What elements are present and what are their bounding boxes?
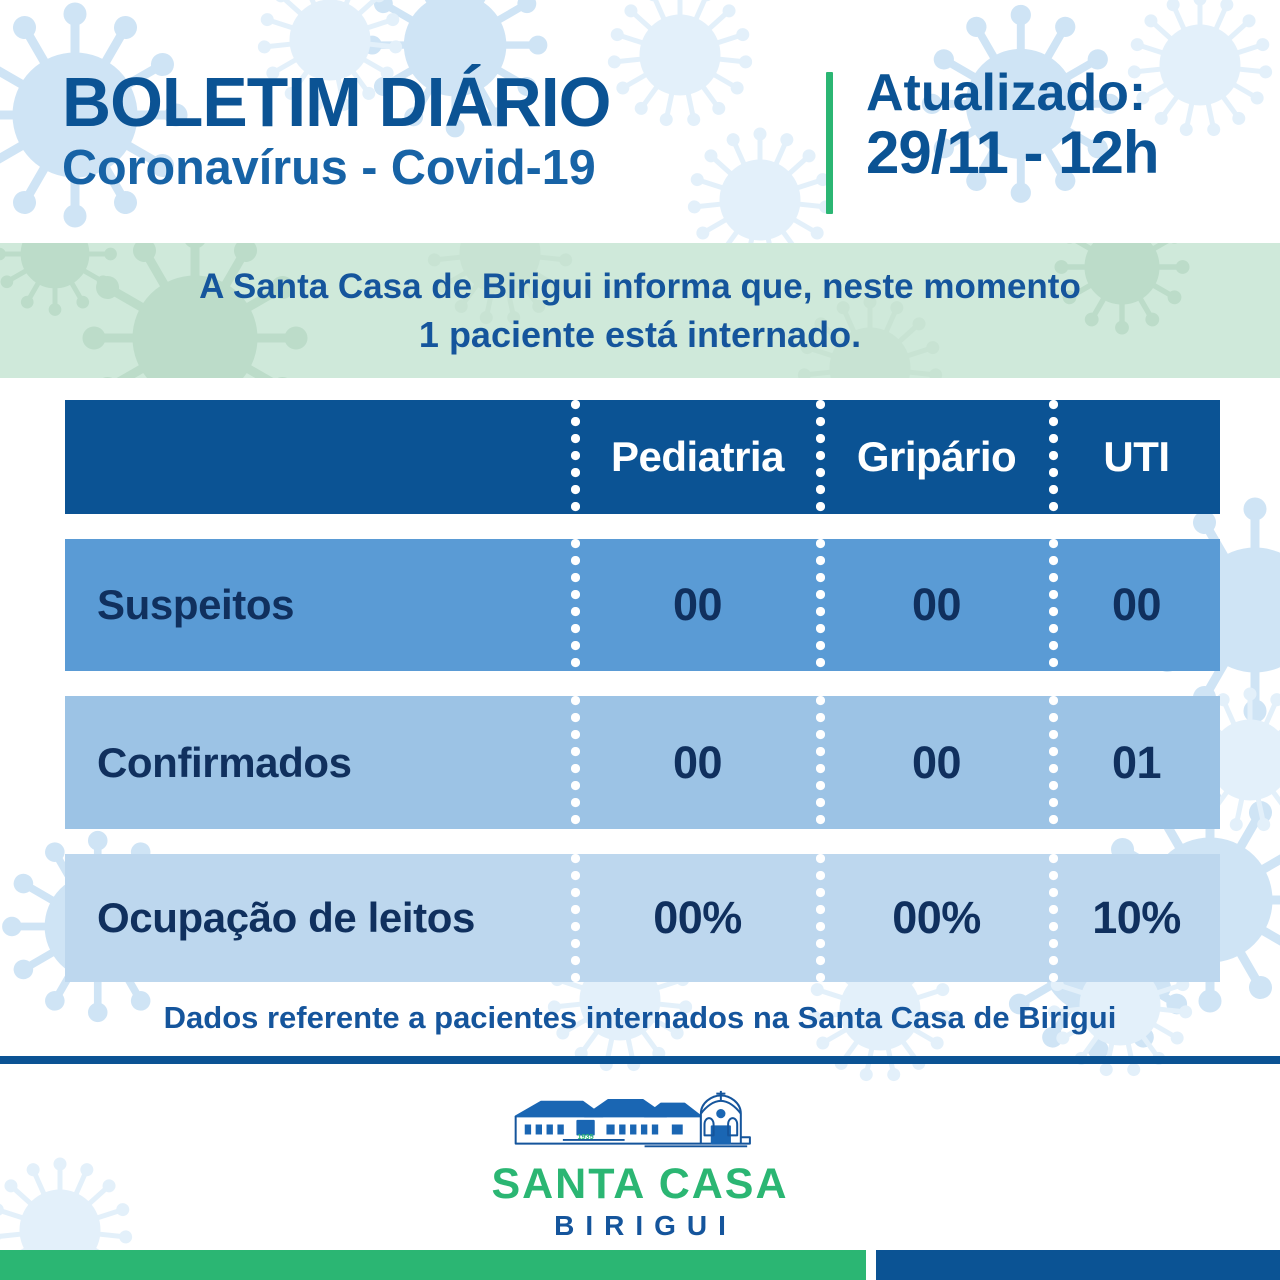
row-value-cell: 00% [820, 854, 1053, 982]
table-row: Ocupação de leitos 00% 00% 10% [65, 854, 1220, 982]
header-title-block: BOLETIM DIÁRIO Coronavírus - Covid-19 [62, 68, 807, 195]
column-header-label: Gripário [857, 433, 1016, 481]
update-block: Atualizado: 29/11 - 12h [866, 66, 1159, 185]
info-banner-line-2: 1 paciente está internado. [0, 312, 1280, 359]
row-label-cell: Ocupação de leitos [65, 854, 575, 982]
column-header-gripario: Gripário [820, 400, 1053, 514]
row-value-cell: 00 [820, 696, 1053, 829]
row-value: 00 [912, 579, 961, 631]
row-value-cell: 10% [1053, 854, 1220, 982]
row-value: 00 [1112, 579, 1161, 631]
footer-bar-green [0, 1250, 866, 1280]
column-header-label: UTI [1103, 433, 1169, 481]
row-label: Suspeitos [97, 581, 294, 629]
update-label: Atualizado: [866, 66, 1159, 121]
row-value-cell: 00 [1053, 539, 1220, 671]
occupancy-table: Pediatria Gripário UTI Suspeitos 00 00 [65, 400, 1220, 982]
poster-header: BOLETIM DIÁRIO Coronavírus - Covid-19 At… [0, 0, 1280, 243]
row-value: 00 [912, 737, 961, 789]
page-title: BOLETIM DIÁRIO [62, 68, 785, 137]
table-footnote: Dados referente a pacientes internados n… [0, 1000, 1280, 1036]
footer-bars [0, 1250, 1280, 1280]
table-row: Suspeitos 00 00 00 [65, 539, 1220, 671]
row-value-cell: 00 [820, 539, 1053, 671]
row-value: 00 [673, 737, 722, 789]
update-timestamp: 29/11 - 12h [866, 121, 1159, 185]
page-subtitle: Coronavírus - Covid-19 [62, 141, 800, 196]
table-corner-cell [65, 400, 575, 514]
logo-name: SANTA CASA [491, 1163, 788, 1206]
covid-bulletin-poster: BOLETIM DIÁRIO Coronavírus - Covid-19 At… [0, 0, 1280, 1280]
footer-rule [0, 1056, 1280, 1064]
row-value: 10% [1092, 892, 1181, 944]
info-banner: A Santa Casa de Birigui informa que, nes… [0, 243, 1280, 378]
row-label-cell: Confirmados [65, 696, 575, 829]
santa-casa-logo: 1935 SANTA CASA BIRIGUI [0, 1090, 1280, 1240]
logo-city: BIRIGUI [543, 1212, 737, 1240]
column-header-label: Pediatria [611, 433, 784, 481]
table-row: Confirmados 00 00 01 [65, 696, 1220, 829]
row-value-cell: 00 [575, 696, 820, 829]
column-header-uti: UTI [1053, 400, 1220, 514]
row-label: Ocupação de leitos [97, 894, 475, 942]
column-header-pediatria: Pediatria [575, 400, 820, 514]
row-value: 00 [673, 579, 722, 631]
row-value-cell: 00 [575, 539, 820, 671]
info-banner-line-1: A Santa Casa de Birigui informa que, nes… [0, 265, 1280, 310]
row-value-cell: 01 [1053, 696, 1220, 829]
row-value: 00% [653, 892, 742, 944]
row-value: 01 [1112, 737, 1161, 789]
logo-established-year: 1935 [577, 1132, 593, 1141]
row-label-cell: Suspeitos [65, 539, 575, 671]
hospital-building-icon: 1935 [493, 1090, 788, 1159]
header-divider [826, 72, 833, 214]
row-label: Confirmados [97, 739, 352, 787]
table-header-row: Pediatria Gripário UTI [65, 400, 1220, 514]
row-value-cell: 00% [575, 854, 820, 982]
row-value: 00% [892, 892, 981, 944]
footer-bar-blue [876, 1250, 1280, 1280]
